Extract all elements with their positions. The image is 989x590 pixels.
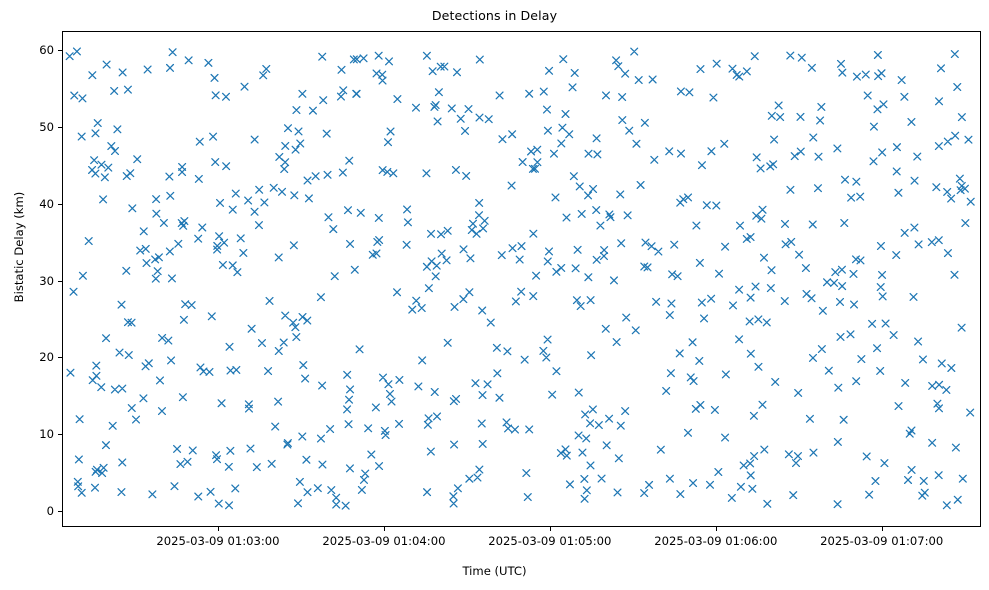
page-title: Detections in Delay xyxy=(0,8,989,23)
x-tick-label: 2025-03-09 01:04:00 xyxy=(274,534,494,548)
y-tick-label: 60 xyxy=(14,43,54,57)
figure-canvas: Detections in Delay 0102030405060 2025-0… xyxy=(0,0,989,590)
x-tick-mark xyxy=(716,527,717,531)
x-tick-label: 2025-03-09 01:03:00 xyxy=(108,534,328,548)
scatter-points-group xyxy=(66,48,974,509)
x-tick-mark xyxy=(550,527,551,531)
x-tick-label: 2025-03-09 01:05:00 xyxy=(440,534,660,548)
scatter-marker-path xyxy=(66,48,974,509)
x-axis-label: Time (UTC) xyxy=(0,564,989,578)
y-axis-label: Bistatic Delay (km) xyxy=(12,117,26,377)
x-tick-label: 2025-03-09 01:07:00 xyxy=(772,534,989,548)
x-tick-mark xyxy=(882,527,883,531)
y-tick-label: 0 xyxy=(14,504,54,518)
y-tick-label: 10 xyxy=(14,427,54,441)
x-tick-mark xyxy=(384,527,385,531)
scatter-series xyxy=(63,32,980,526)
x-tick-mark xyxy=(218,527,219,531)
plot-area[interactable] xyxy=(62,31,981,527)
x-tick-label: 2025-03-09 01:06:00 xyxy=(606,534,826,548)
